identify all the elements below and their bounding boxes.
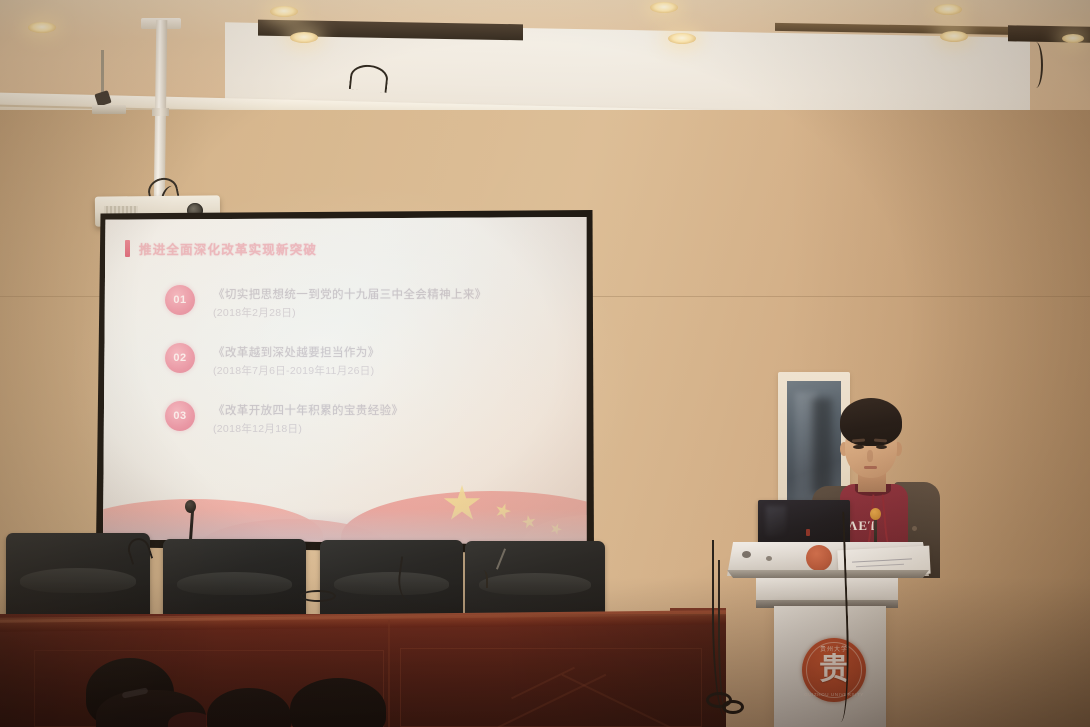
ceiling-cable-right (1029, 42, 1043, 88)
ceiling-light (650, 2, 678, 13)
chair (320, 540, 463, 617)
cable-coil (722, 700, 744, 714)
presentation-slide: 推进全面深化改革实现新突破 01 《切实把思想统一到党的十九届三中全会精神上来》… (103, 217, 589, 547)
podium-object (742, 551, 751, 558)
ceiling-light (668, 33, 696, 44)
cable (478, 570, 488, 588)
handheld-microphone-head (870, 508, 881, 520)
lecture-hall-scene: 推进全面深化改革实现新突破 01 《切实把思想统一到党的十九届三中全会精神上来》… (0, 0, 1090, 727)
laptop-indicator (806, 529, 810, 536)
eye (853, 445, 864, 449)
floor-cable (718, 560, 734, 710)
laptop-screen-reflection (766, 506, 786, 536)
item-number-badge: 01 (165, 285, 195, 315)
ceiling-light (270, 6, 298, 17)
item-text-block: 《切实把思想统一到党的十九届三中全会精神上来》 (2018年2月28日) (213, 286, 487, 320)
projector-pole-collar (152, 108, 169, 116)
chair (163, 539, 306, 617)
ceiling-light (28, 22, 56, 33)
item-date: (2018年2月28日) (213, 305, 487, 320)
eye (876, 445, 887, 449)
mouth (864, 466, 877, 469)
slide-list-item: 01 《切实把思想统一到党的十九届三中全会精神上来》 (2018年2月28日) (165, 285, 565, 343)
cable (300, 590, 336, 602)
item-title: 《切实把思想统一到党的十九届三中全会精神上来》 (213, 286, 487, 302)
item-title: 《改革越到深处越要担当作为》 (213, 344, 380, 360)
chair-row (0, 533, 726, 623)
item-text-block: 《改革越到深处越要担当作为》 (2018年7月6日-2019年11月26日) (213, 344, 380, 378)
item-number-badge: 03 (165, 401, 195, 431)
screen-surface: 推进全面深化改革实现新突破 01 《切实把思想统一到党的十九届三中全会精神上来》… (103, 217, 589, 547)
chair-lumbar (20, 568, 135, 593)
table-microphone-head (185, 500, 196, 513)
ceiling-light (940, 31, 968, 42)
projection-screen: 推进全面深化改革实现新突破 01 《切实把思想统一到党的十九届三中全会精神上来》… (96, 210, 596, 554)
presenter-hair (840, 398, 902, 446)
item-text-block: 《改革开放四十年积累的宝贵经验》 (2018年12月18日) (213, 402, 403, 436)
item-date: (2018年7月6日-2019年11月26日) (213, 363, 380, 378)
slide-title: 推进全面深化改革实现新突破 (139, 239, 317, 258)
jacket-button (912, 526, 917, 531)
ceiling-light (934, 4, 962, 15)
nose (867, 450, 873, 462)
item-date: (2018年12月18日) (213, 421, 403, 436)
slide-hill-graphic (103, 442, 589, 547)
slide-title-row: 推进全面深化改革实现新突破 (125, 239, 317, 258)
chair-lumbar (334, 572, 448, 595)
ceiling-light (290, 32, 318, 43)
podium-object (766, 556, 772, 561)
item-number-badge: 02 (165, 343, 195, 373)
ceiling-light (1062, 34, 1084, 43)
item-title: 《改革开放四十年积累的宝贵经验》 (213, 402, 403, 418)
chair-lumbar (177, 572, 291, 595)
chair-lumbar (479, 573, 591, 596)
title-accent-bar (125, 240, 130, 257)
slide-item-list: 01 《切实把思想统一到党的十九届三中全会精神上来》 (2018年2月28日) … (165, 285, 565, 459)
ceiling-mounted-device (92, 105, 126, 114)
slide-list-item: 02 《改革越到深处越要担当作为》 (2018年7月6日-2019年11月26日… (165, 343, 565, 401)
